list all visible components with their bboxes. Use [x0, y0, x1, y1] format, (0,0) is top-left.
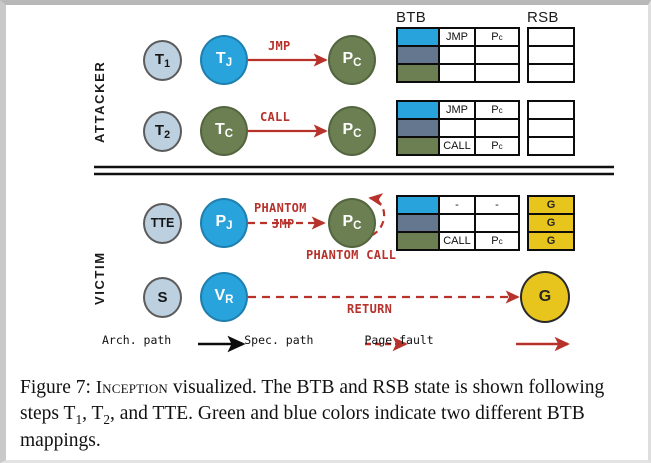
btb-cell-target: Pc [474, 233, 518, 249]
btb-table-row2: JMP Pc CALL Pc [396, 100, 520, 156]
btb-cell-type [438, 120, 474, 136]
btb-swatch-green [398, 138, 438, 154]
btb-table-row1: JMP Pc [396, 27, 520, 83]
node-tj-sub: J [226, 57, 232, 69]
rsb-title: RSB [527, 9, 559, 26]
btb-swatch-blue [398, 197, 438, 213]
table-row: JMP Pc [398, 102, 518, 118]
node-pc-row1-label: P [343, 50, 354, 67]
btb-cell-target: Pc [474, 102, 518, 118]
btb-cell-type: CALL [438, 138, 474, 154]
node-tc[interactable]: TC [200, 106, 248, 156]
btb-cell-target-sub: c [499, 106, 503, 115]
btb-swatch-blue [398, 102, 438, 118]
figure-caption: Figure 7: Inception visualized. The BTB … [20, 375, 640, 454]
btb-cell-target: - [474, 197, 518, 213]
node-pj-sub: J [226, 220, 232, 232]
node-pc-row2-label: P [343, 121, 354, 138]
btb-swatch-slate [398, 120, 438, 136]
btb-cell-target [474, 47, 518, 63]
role-label-victim: VICTIM [92, 251, 107, 305]
edge-label-jmp: JMP [268, 39, 291, 53]
node-pc-row3[interactable]: PC [328, 198, 376, 248]
btb-title: BTB [396, 9, 426, 26]
table-row: CALL Pc [398, 231, 518, 249]
legend: Arch. path Spec. path Page fault [102, 333, 441, 347]
rsb-cell [529, 45, 573, 63]
table-row [398, 45, 518, 63]
node-step-s-label: S [157, 290, 167, 305]
node-step-t2-label: T [155, 122, 164, 139]
inception-diagram: ATTACKER VICTIM BTB RSB T1 TJ PC JMP JMP… [6, 5, 648, 362]
btb-swatch-slate [398, 47, 438, 63]
node-tj-label: T [216, 50, 226, 67]
legend-label-spec: Spec. path [244, 333, 313, 347]
btb-swatch-blue [398, 29, 438, 45]
btb-cell-target [474, 215, 518, 231]
section-divider [94, 167, 614, 174]
rsb-table-row2 [527, 100, 575, 156]
btb-cell-type: JMP [438, 29, 474, 45]
table-row [398, 213, 518, 231]
edge-label-phantom: PHANTOM [254, 201, 307, 215]
table-row: CALL Pc [398, 136, 518, 154]
role-label-attacker: ATTACKER [92, 61, 107, 143]
table-row: JMP Pc [398, 29, 518, 45]
btb-swatch-slate [398, 215, 438, 231]
caption-line2-c: , and TTE. Green and blue colors indicat… [110, 403, 470, 424]
node-vr-sub: R [225, 294, 233, 306]
rsb-table-row1 [527, 27, 575, 83]
btb-cell-type [438, 215, 474, 231]
btb-cell-target: Pc [474, 138, 518, 154]
node-step-t2-sub: 2 [164, 129, 170, 141]
figure-page: ATTACKER VICTIM BTB RSB T1 TJ PC JMP JMP… [0, 0, 651, 463]
edge-label-phantom-call: PHANTOM CALL [306, 248, 396, 262]
caption-line2-b: , T [82, 403, 103, 424]
node-step-t1-sub: 1 [164, 58, 170, 70]
edge-label-return: RETURN [347, 302, 392, 316]
btb-swatch-green [398, 233, 438, 249]
btb-table-row3: - - CALL Pc [396, 195, 520, 251]
node-pc-row2[interactable]: PC [328, 106, 376, 156]
table-row [398, 63, 518, 81]
node-pc-row1[interactable]: PC [328, 35, 376, 85]
btb-cell-type: CALL [438, 233, 474, 249]
node-pc-row2-sub: C [353, 128, 361, 140]
rsb-cell: G [529, 197, 573, 213]
node-step-t2[interactable]: T2 [143, 111, 182, 152]
node-pc-row1-sub: C [353, 57, 361, 69]
node-g-label: G [539, 289, 551, 305]
btb-cell-target [474, 65, 518, 81]
caption-line1-rest: visualized. The BTB and RSB state is sho… [173, 377, 524, 398]
btb-cell-target-label: P [491, 140, 498, 152]
btb-cell-target-label: P [491, 235, 498, 247]
node-tc-sub: C [225, 128, 233, 140]
node-tj[interactable]: TJ [200, 35, 248, 85]
btb-cell-type: - [438, 197, 474, 213]
node-vr[interactable]: VR [200, 272, 248, 322]
node-vr-label: V [215, 287, 226, 304]
btb-cell-target-sub: c [499, 142, 503, 151]
node-pc-row3-label: P [343, 213, 354, 230]
rsb-cell [529, 118, 573, 136]
node-g[interactable]: G [520, 271, 570, 323]
legend-label-arch: Arch. path [102, 333, 171, 347]
caption-sub-2: 2 [103, 412, 110, 427]
btb-cell-target-sub: c [499, 237, 503, 246]
caption-system-name: Inception [96, 377, 168, 397]
node-step-t1[interactable]: T1 [143, 40, 182, 81]
btb-cell-target-label: P [491, 31, 498, 43]
rsb-cell [529, 29, 573, 45]
caption-prefix: Figure 7: [20, 377, 91, 398]
btb-cell-target-sub: c [499, 33, 503, 42]
node-pj-label: P [215, 213, 226, 230]
rsb-cell [529, 102, 573, 118]
edge-label-call: CALL [260, 110, 290, 124]
rsb-cell [529, 136, 573, 154]
node-step-tte-label: TTE [151, 217, 175, 230]
table-row: - - [398, 197, 518, 213]
node-step-s[interactable]: S [143, 277, 182, 318]
btb-cell-target-label: P [491, 104, 498, 116]
node-step-t1-label: T [155, 51, 164, 68]
node-step-tte[interactable]: TTE [143, 203, 182, 244]
btb-cell-type [438, 47, 474, 63]
btb-cell-type [438, 65, 474, 81]
node-tc-label: T [215, 121, 225, 138]
btb-cell-target: Pc [474, 29, 518, 45]
btb-cell-target [474, 120, 518, 136]
btb-cell-type: JMP [438, 102, 474, 118]
btb-swatch-green [398, 65, 438, 81]
rsb-table-row3: G G G [527, 195, 575, 251]
rsb-cell [529, 63, 573, 81]
node-pc-row3-sub: C [353, 220, 361, 232]
node-pj[interactable]: PJ [200, 198, 248, 248]
legend-label-pagefault: Page fault [365, 333, 434, 347]
rsb-cell: G [529, 231, 573, 249]
edge-label-phantom-jmp: JMP [272, 217, 295, 231]
table-row [398, 118, 518, 136]
rsb-cell: G [529, 213, 573, 231]
